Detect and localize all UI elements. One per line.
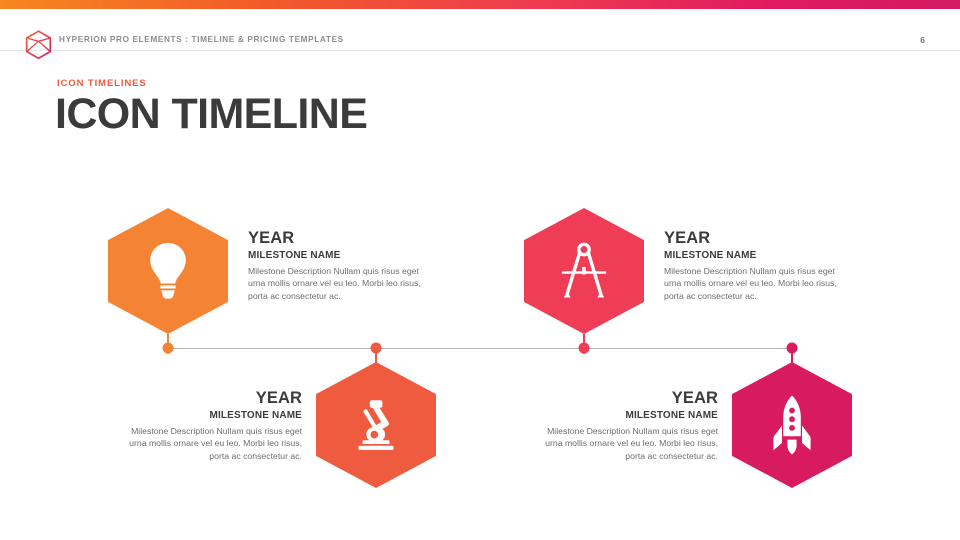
- page-number: 6: [920, 35, 925, 45]
- hexagon-badge: [732, 362, 852, 488]
- year-label: YEAR: [248, 229, 438, 248]
- timeline-item-3[interactable]: [524, 208, 644, 334]
- connector-stem: [375, 346, 377, 364]
- hexagon-badge: [316, 362, 436, 488]
- rocket-icon: [769, 394, 815, 456]
- microscope-icon: [347, 396, 405, 454]
- slide-header: HYPERION PRO ELEMENTS : TIMELINE & PRICI…: [0, 9, 960, 51]
- year-label: YEAR: [528, 389, 718, 408]
- hexagon-badge: [108, 208, 228, 334]
- milestone-description: Milestone Description Nullam quis risus …: [664, 265, 854, 302]
- timeline-item-4[interactable]: [732, 362, 852, 488]
- timeline-text-2: YEAR MILESTONE NAME Milestone Descriptio…: [112, 389, 302, 462]
- timeline-text-4: YEAR MILESTONE NAME Milestone Descriptio…: [528, 389, 718, 462]
- milestone-description: Milestone Description Nullam quis risus …: [248, 265, 438, 302]
- milestone-name: MILESTONE NAME: [664, 250, 854, 262]
- section-eyebrow: ICON TIMELINES: [57, 78, 147, 89]
- connector-stem: [583, 334, 585, 354]
- timeline-item-2[interactable]: [316, 362, 436, 488]
- header-divider: [0, 50, 960, 51]
- milestone-name: MILESTONE NAME: [112, 410, 302, 422]
- year-label: YEAR: [664, 229, 854, 248]
- hexagon-logo-icon: [25, 30, 52, 59]
- timeline-axis: [168, 348, 792, 349]
- compass-divider-icon: [558, 241, 610, 301]
- milestone-description: Milestone Description Nullam quis risus …: [112, 425, 302, 462]
- top-gradient-bar: [0, 0, 960, 9]
- timeline-text-1: YEAR MILESTONE NAME Milestone Descriptio…: [248, 229, 438, 302]
- timeline-item-1[interactable]: [108, 208, 228, 334]
- milestone-name: MILESTONE NAME: [248, 250, 438, 262]
- year-label: YEAR: [112, 389, 302, 408]
- connector-stem: [791, 346, 793, 364]
- header-brand-title: HYPERION PRO ELEMENTS : TIMELINE & PRICI…: [59, 35, 344, 44]
- lightbulb-icon: [145, 241, 191, 301]
- hexagon-badge: [524, 208, 644, 334]
- connector-stem: [167, 334, 169, 354]
- page-title: ICON TIMELINE: [55, 92, 367, 137]
- milestone-name: MILESTONE NAME: [528, 410, 718, 422]
- timeline-text-3: YEAR MILESTONE NAME Milestone Descriptio…: [664, 229, 854, 302]
- milestone-description: Milestone Description Nullam quis risus …: [528, 425, 718, 462]
